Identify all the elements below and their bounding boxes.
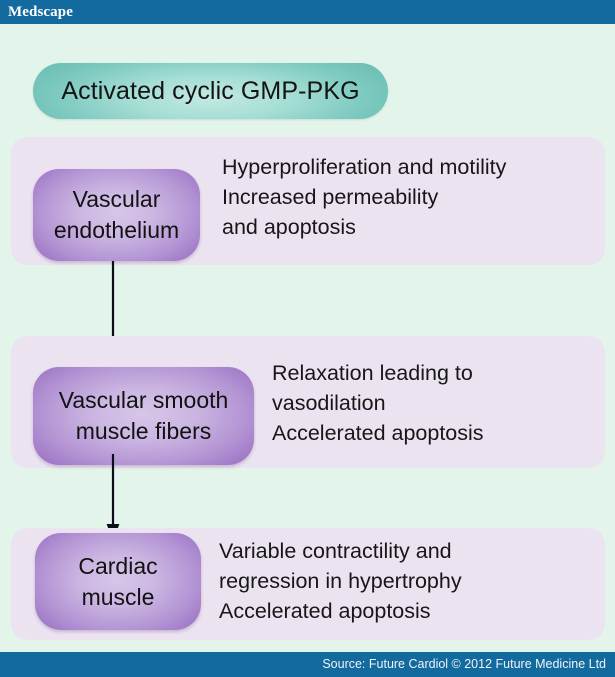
node-label-line-1: Cardiac <box>78 551 157 582</box>
effect-line: Increased permeability <box>222 182 506 212</box>
medscape-logo-text: Medscape <box>8 3 73 21</box>
node-label-line-2: muscle fibers <box>76 416 211 447</box>
node-label: Activated cyclic GMP-PKG <box>61 77 359 106</box>
node-activated-cyclic-gmp-pkg: Activated cyclic GMP-PKG <box>33 63 388 119</box>
node-cardiac-muscle: Cardiac muscle <box>35 533 201 630</box>
node-label-line-1: Vascular smooth <box>59 385 229 416</box>
effect-list-vascular-endothelium: Hyperproliferation and motility Increase… <box>222 152 506 242</box>
node-label-line-2: endothelium <box>54 215 179 246</box>
effect-list-cardiac-muscle: Variable contractility and regression in… <box>219 536 462 626</box>
node-label-line-1: Vascular <box>73 184 161 215</box>
medscape-header-bar: Medscape <box>0 0 615 24</box>
node-vascular-smooth-muscle-fibers: Vascular smooth muscle fibers <box>33 367 254 465</box>
source-footer-bar: Source: Future Cardiol © 2012 Future Med… <box>0 652 615 677</box>
effect-line: Accelerated apoptosis <box>219 596 462 626</box>
node-label-line-2: muscle <box>82 582 155 613</box>
source-attribution-text: Source: Future Cardiol © 2012 Future Med… <box>322 656 606 673</box>
effect-line: Accelerated apoptosis <box>272 418 484 448</box>
effect-line: Hyperproliferation and motility <box>222 152 506 182</box>
node-vascular-endothelium: Vascular endothelium <box>33 169 200 261</box>
diagram-canvas: Activated cyclic GMP-PKG Vascular endoth… <box>0 24 615 652</box>
effect-line: Relaxation leading to <box>272 358 484 388</box>
effect-line: regression in hypertrophy <box>219 566 462 596</box>
effect-line: and apoptosis <box>222 212 506 242</box>
effect-list-vascular-smooth-muscle: Relaxation leading to vasodilation Accel… <box>272 358 484 448</box>
effect-line: vasodilation <box>272 388 484 418</box>
effect-line: Variable contractility and <box>219 536 462 566</box>
